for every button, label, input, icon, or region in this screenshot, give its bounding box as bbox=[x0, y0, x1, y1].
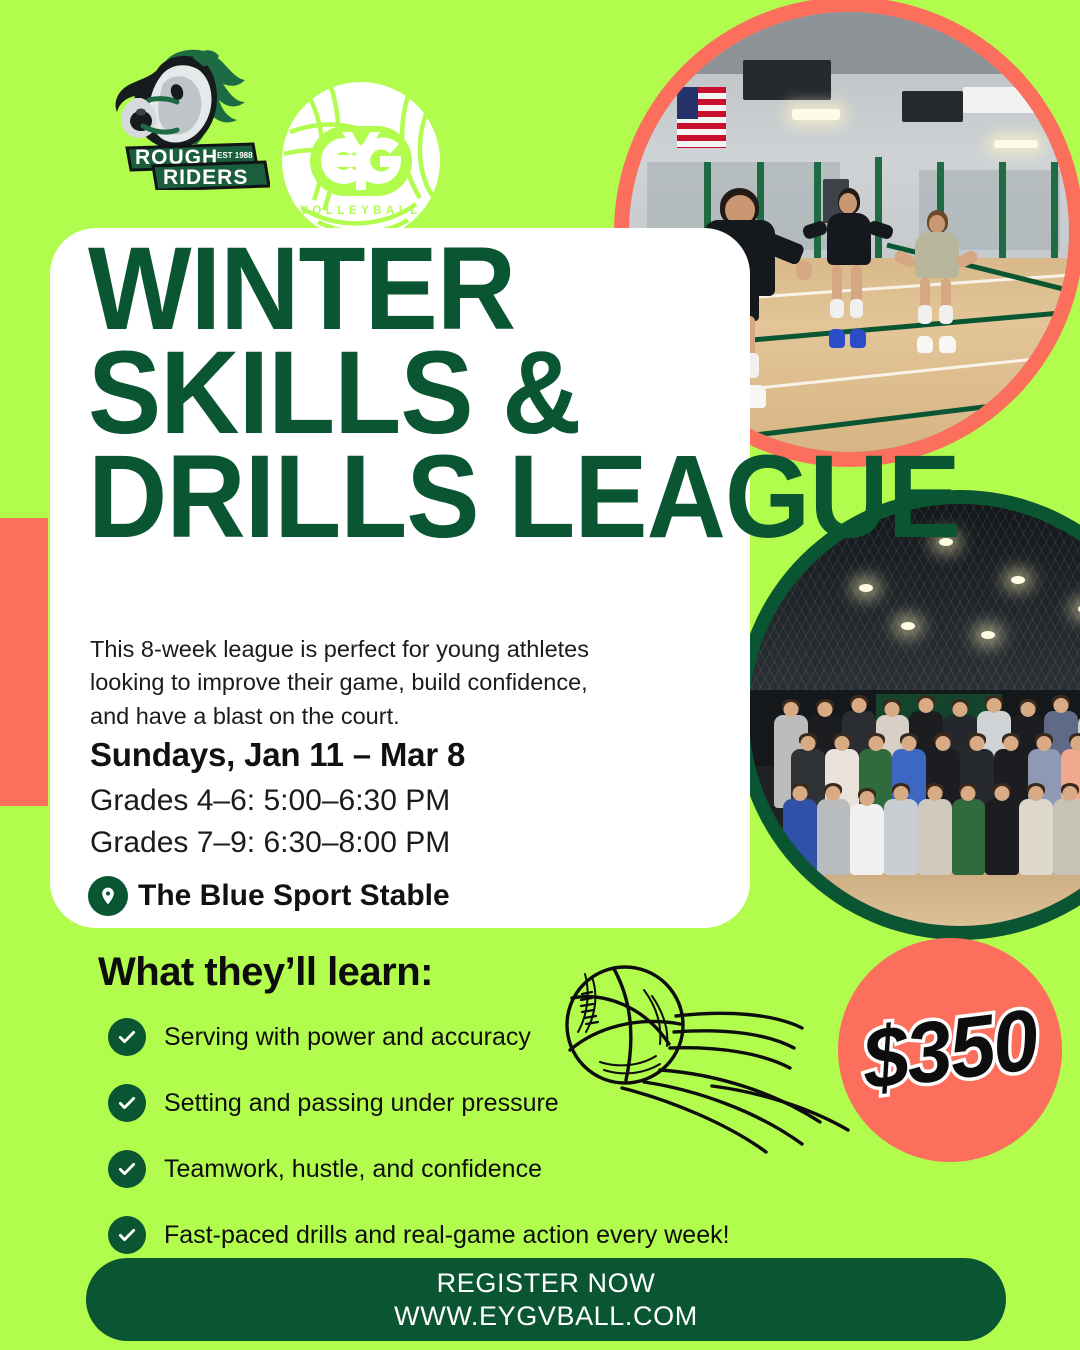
learn-section-title: What they’ll learn: bbox=[98, 950, 433, 995]
check-icon bbox=[108, 1150, 146, 1188]
logo-row: ROUGH EST 1988 RIDERS bbox=[100, 35, 460, 200]
venue-name: The Blue Sport Stable bbox=[138, 879, 450, 913]
page-title: WINTER SKILLS & DRILLS LEAGUE bbox=[88, 238, 925, 549]
flyer-canvas: ROUGH EST 1988 RIDERS bbox=[0, 0, 1080, 1350]
check-icon bbox=[108, 1216, 146, 1254]
rough-riders-word-2: RIDERS bbox=[163, 166, 248, 189]
check-icon bbox=[108, 1018, 146, 1056]
eyg-subtext: VOLLEYBALL bbox=[300, 205, 422, 217]
program-description: This 8-week league is perfect for young … bbox=[90, 633, 610, 733]
list-item-label: Serving with power and accuracy bbox=[164, 1023, 531, 1052]
list-item: Teamwork, hustle, and confidence bbox=[108, 1142, 730, 1196]
price-badge: $350 bbox=[838, 938, 1062, 1162]
list-item-label: Setting and passing under pressure bbox=[164, 1089, 559, 1118]
list-item-label: Fast-paced drills and real-game action e… bbox=[164, 1221, 730, 1250]
location-pin-icon bbox=[88, 876, 128, 916]
program-dates: Sundays, Jan 11 – Mar 8 bbox=[90, 736, 465, 774]
session-grades-7-9: Grades 7–9: 6:30–8:00 PM bbox=[90, 826, 450, 860]
info-card: WINTER SKILLS & DRILLS LEAGUE This 8-wee… bbox=[50, 228, 750, 928]
cta-url-label: WWW.EYGVBALL.COM bbox=[394, 1301, 698, 1332]
register-now-button[interactable]: REGISTER NOW WWW.EYGVBALL.COM bbox=[86, 1258, 1006, 1341]
venue-row: The Blue Sport Stable bbox=[88, 876, 450, 916]
eyg-volleyball-logo: VOLLEYBALL bbox=[280, 80, 442, 242]
list-item: Setting and passing under pressure bbox=[108, 1076, 730, 1130]
price-amount: $350 bbox=[858, 990, 1043, 1109]
list-item: Fast-paced drills and real-game action e… bbox=[108, 1208, 730, 1262]
headline-line-3: DRILLS LEAGUE bbox=[88, 446, 925, 550]
learn-list: Serving with power and accuracy Setting … bbox=[108, 1010, 730, 1274]
coral-accent-stripe bbox=[0, 518, 48, 806]
session-grades-4-6: Grades 4–6: 5:00–6:30 PM bbox=[90, 784, 450, 818]
cta-primary-label: REGISTER NOW bbox=[437, 1268, 656, 1299]
rough-riders-est: EST 1988 bbox=[217, 151, 253, 160]
check-icon bbox=[108, 1084, 146, 1122]
rough-riders-logo: ROUGH EST 1988 RIDERS bbox=[105, 40, 270, 190]
list-item-label: Teamwork, hustle, and confidence bbox=[164, 1155, 542, 1184]
list-item: Serving with power and accuracy bbox=[108, 1010, 730, 1064]
